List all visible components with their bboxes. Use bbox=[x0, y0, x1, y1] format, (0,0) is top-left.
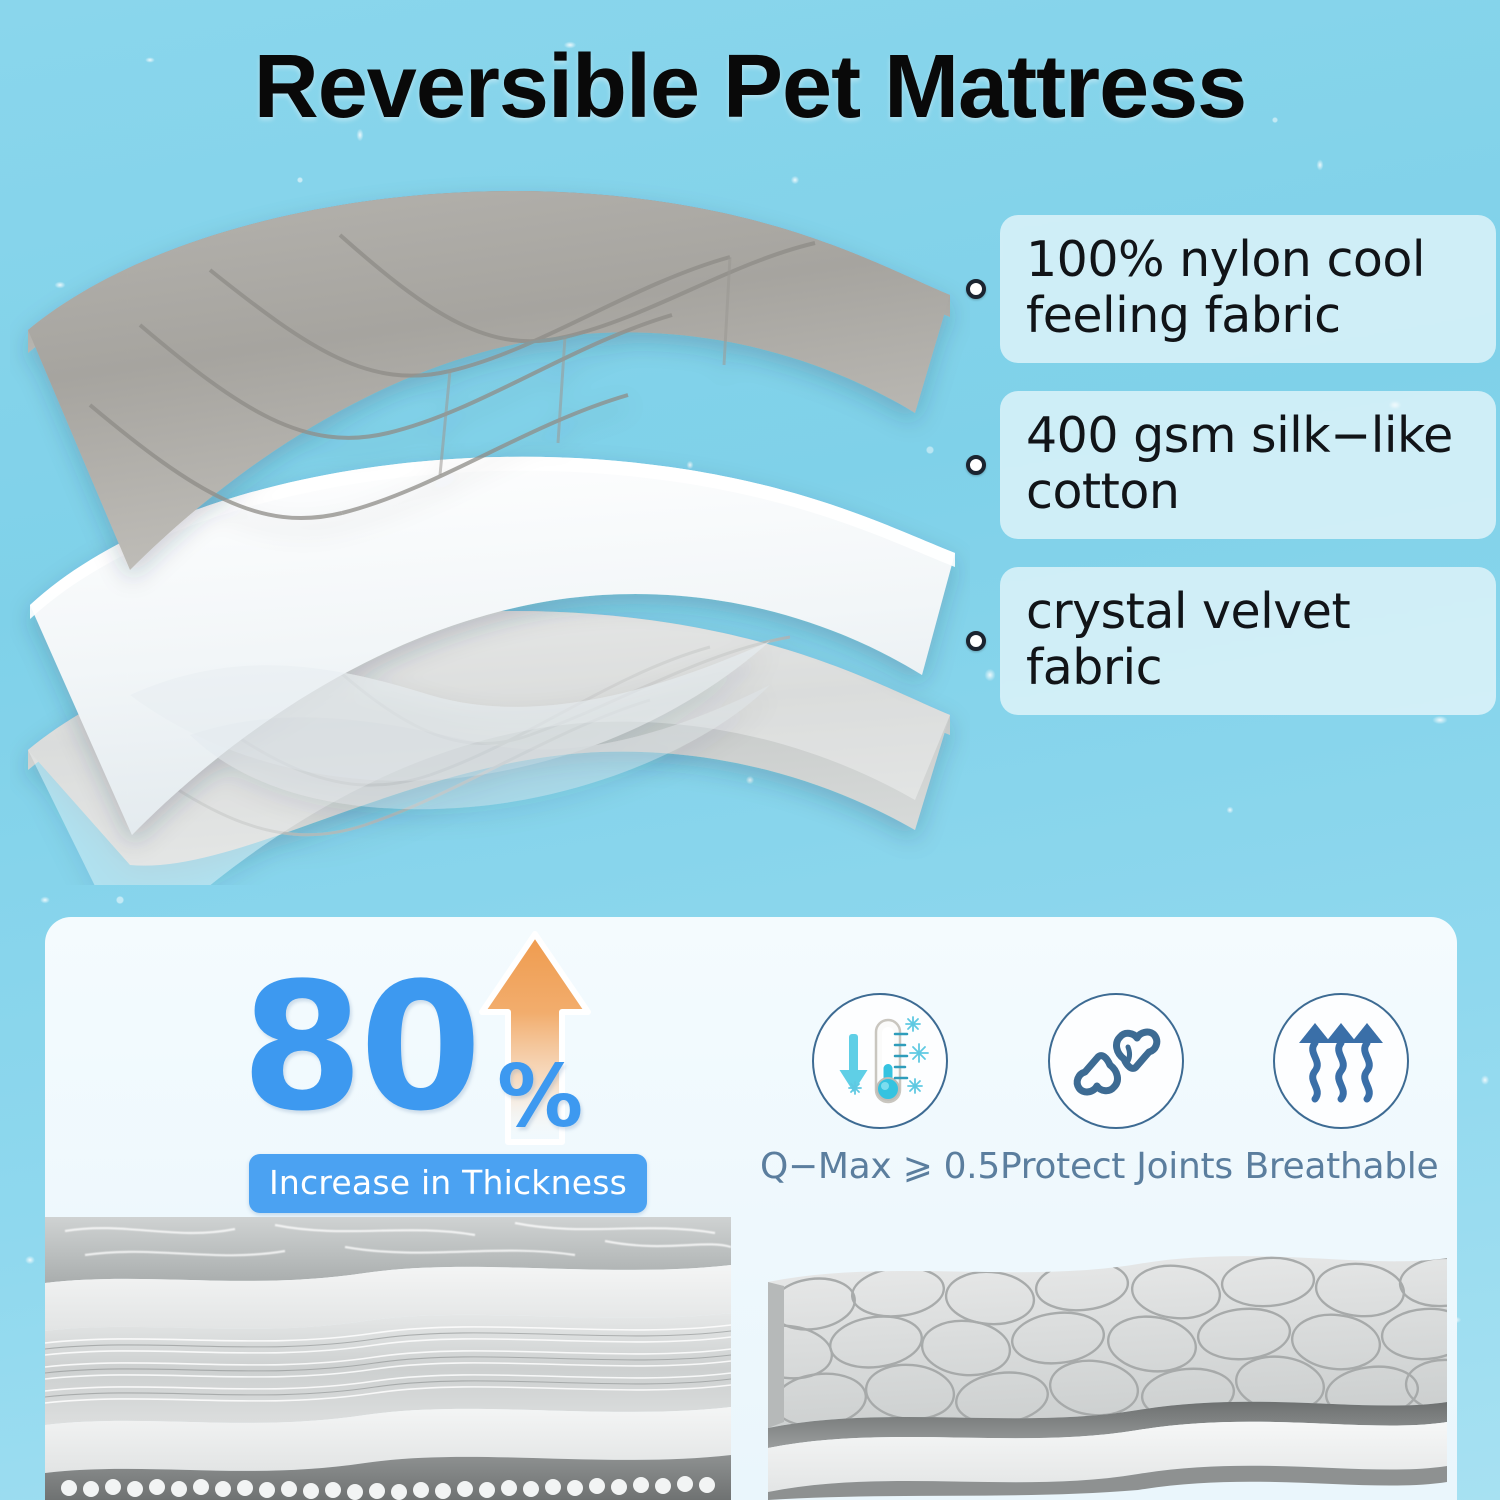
callout-box: 100% nylon cool feeling fabric bbox=[1000, 215, 1496, 363]
fabric-cross-section-photo bbox=[45, 1217, 731, 1500]
icon-badge bbox=[1273, 993, 1409, 1129]
callout-box: 400 gsm silk−like cotton bbox=[1000, 391, 1496, 539]
callout-text: 100% nylon cool feeling fabric bbox=[1026, 232, 1470, 344]
bullet-marker-icon bbox=[966, 279, 986, 299]
airflow-arrows-icon bbox=[1289, 1009, 1393, 1113]
feature-label: Q−Max ⩾ 0.5 bbox=[760, 1146, 1000, 1187]
bone-joint-icon bbox=[1064, 1009, 1168, 1113]
stat-value: 80 bbox=[241, 960, 478, 1136]
stat-unit: % bbox=[497, 1054, 583, 1140]
quilted-surface-photo bbox=[758, 1242, 1457, 1500]
thickness-stat-block: 80 % Increase in Thickness bbox=[241, 932, 661, 1202]
exploded-layer-diagram bbox=[10, 175, 970, 885]
callout-text: 400 gsm silk−like cotton bbox=[1026, 408, 1470, 520]
callout-text: crystal velvet fabric bbox=[1026, 584, 1470, 696]
feature-label: Breathable bbox=[1244, 1146, 1438, 1187]
icon-badge bbox=[1048, 993, 1184, 1129]
callout-velvet: crystal velvet fabric bbox=[966, 567, 1496, 715]
feature-joints: Protect Joints bbox=[1000, 993, 1233, 1208]
features-panel: 80 % Increase in Thickness bbox=[45, 917, 1457, 1500]
page-title: Reversible Pet Mattress bbox=[0, 36, 1500, 139]
callout-box: crystal velvet fabric bbox=[1000, 567, 1496, 715]
stat-caption-pill: Increase in Thickness bbox=[249, 1154, 647, 1213]
callout-cotton: 400 gsm silk−like cotton bbox=[966, 391, 1496, 539]
bullet-marker-icon bbox=[966, 631, 986, 651]
feature-label: Protect Joints bbox=[1000, 1146, 1233, 1187]
callout-nylon: 100% nylon cool feeling fabric bbox=[966, 215, 1496, 363]
thermometer-snowflake-icon bbox=[825, 1006, 935, 1116]
feature-icon-row: Q−Max ⩾ 0.5 Protect Joints bbox=[760, 993, 1450, 1208]
feature-breathable: Breathable bbox=[1233, 993, 1450, 1208]
infographic-canvas: Reversible Pet Mattress bbox=[0, 0, 1500, 1500]
bullet-marker-icon bbox=[966, 455, 986, 475]
feature-qmax: Q−Max ⩾ 0.5 bbox=[760, 993, 1000, 1208]
icon-badge bbox=[812, 993, 948, 1129]
